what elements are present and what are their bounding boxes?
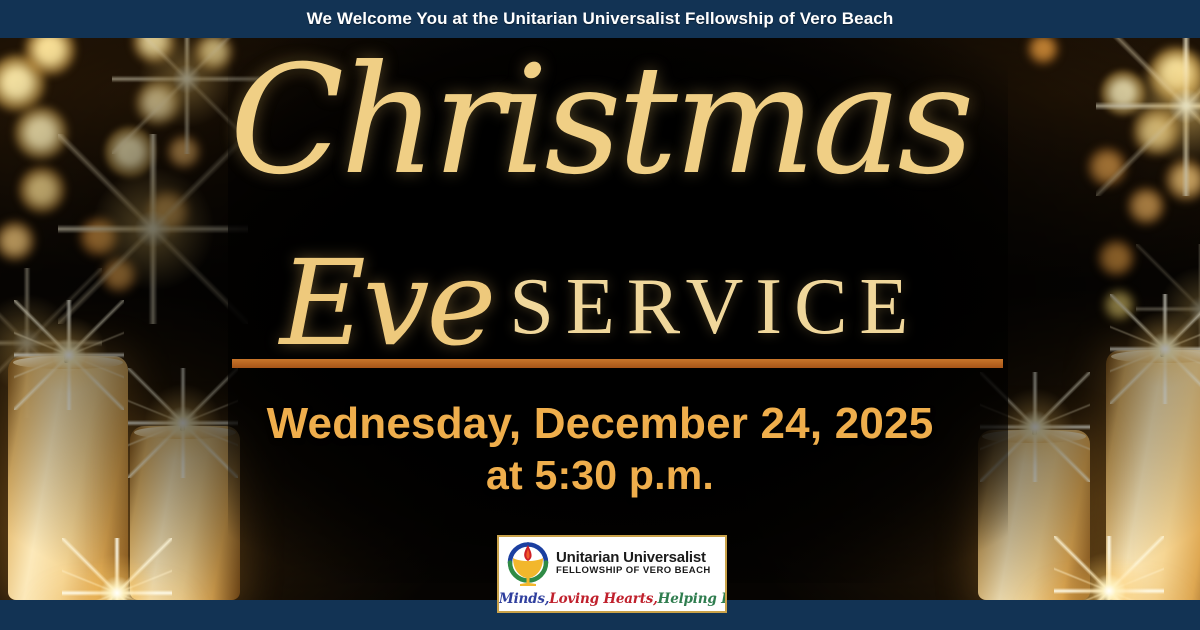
- headline-eve: Eve: [280, 244, 494, 362]
- bokeh-light: [146, 190, 190, 234]
- logo-tagline: Open Minds, Loving Hearts, Helping Hands: [499, 588, 725, 611]
- welcome-banner-text: We Welcome You at the Unitarian Universa…: [307, 9, 894, 29]
- welcome-banner: We Welcome You at the Unitarian Universa…: [0, 0, 1200, 38]
- christmas-eve-service-graphic: We Welcome You at the Unitarian Universa…: [0, 0, 1200, 630]
- headline-eve-service-row: Eve SERVICE: [0, 248, 1200, 366]
- organization-logo: Unitarian Universalist FELLOWSHIP OF VER…: [497, 535, 727, 613]
- candle-wick: [112, 596, 117, 600]
- logo-organization-subtitle: FELLOWSHIP OF VERO BEACH: [556, 565, 711, 577]
- logo-organization-name: Unitarian Universalist: [556, 550, 711, 566]
- headline-service: SERVICE: [509, 267, 920, 347]
- headline-underline-rule: [232, 359, 1003, 368]
- tagline-helping-hands: Helping Hands: [658, 591, 727, 607]
- logo-wordmark: Unitarian Universalist FELLOWSHIP OF VER…: [553, 550, 711, 578]
- event-date: Wednesday, December 24, 2025: [0, 398, 1200, 449]
- headline-christmas: Christmas: [0, 46, 1200, 196]
- logo-top-row: Unitarian Universalist FELLOWSHIP OF VER…: [499, 537, 725, 588]
- candle-wick: [1104, 594, 1109, 600]
- flaming-chalice-icon: [503, 540, 553, 586]
- tagline-loving-hearts: Loving Hearts,: [549, 591, 657, 607]
- event-time: at 5:30 p.m.: [0, 449, 1200, 502]
- event-details: Wednesday, December 24, 2025 at 5:30 p.m…: [0, 398, 1200, 502]
- tagline-open-minds: Open Minds,: [497, 591, 549, 607]
